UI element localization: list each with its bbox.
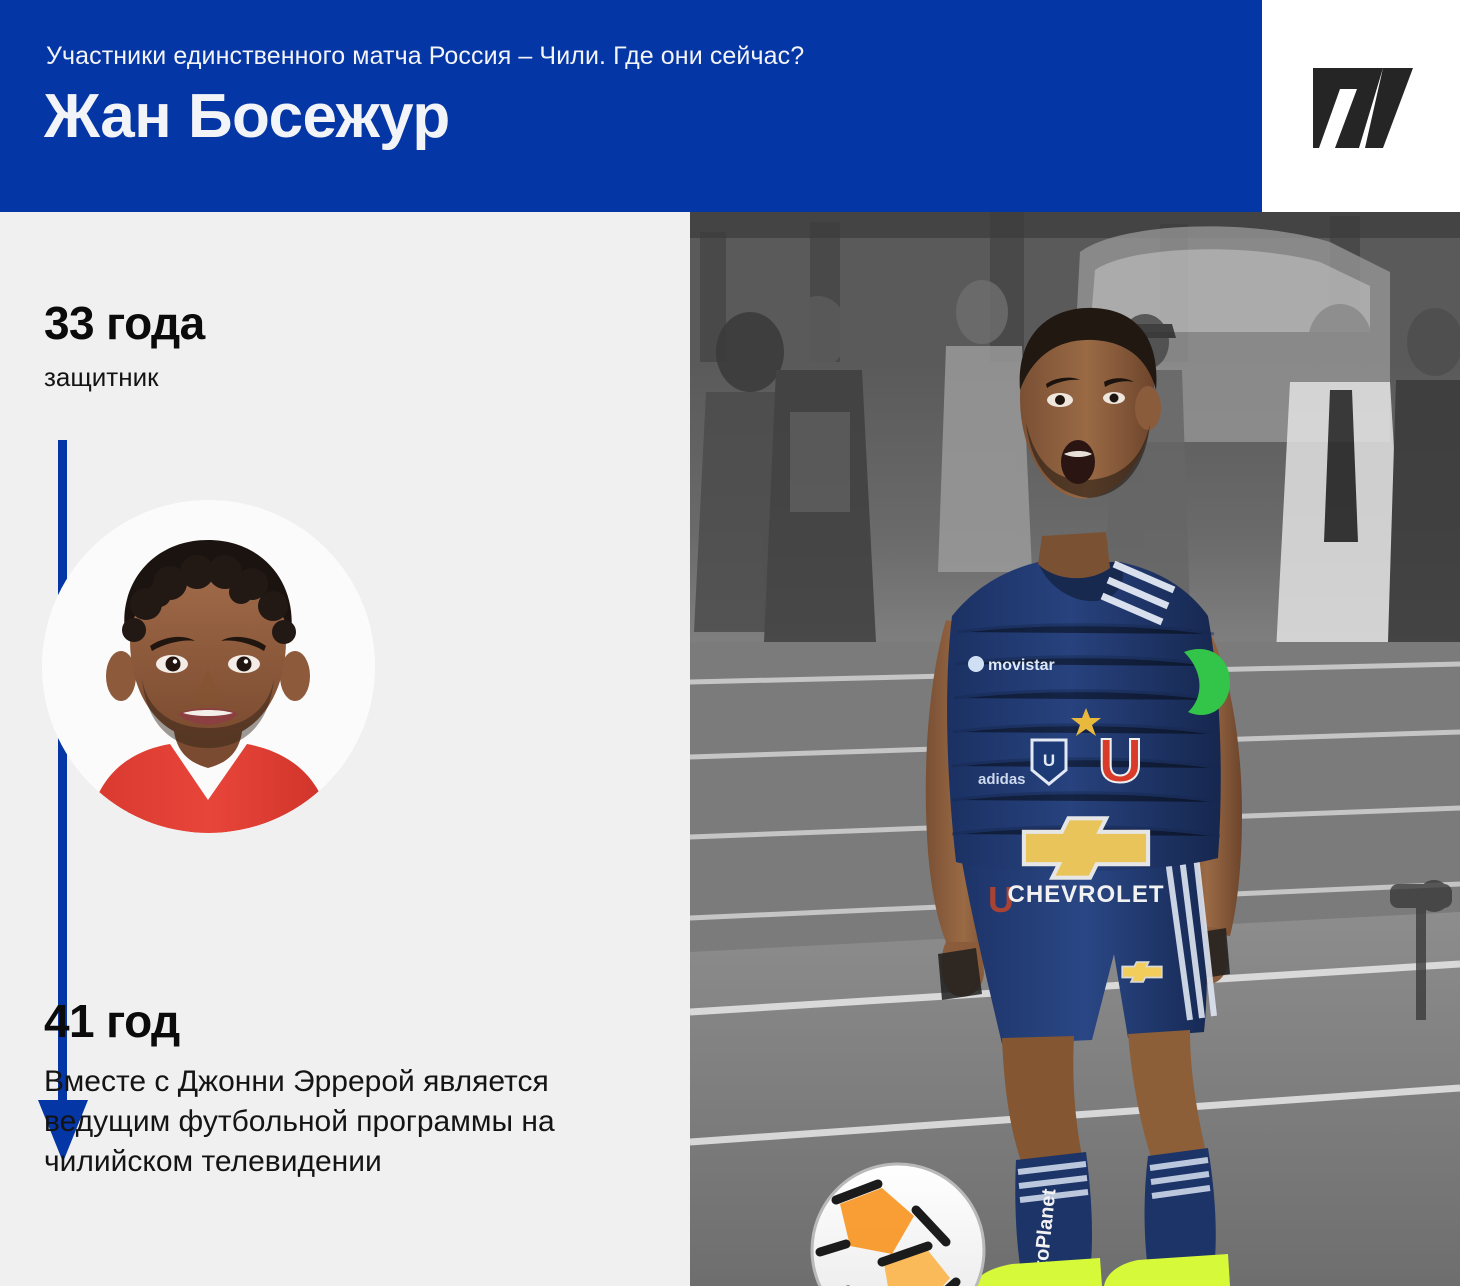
sports-ru-logo-icon[interactable]: [1313, 68, 1413, 148]
svg-text:U: U: [1098, 727, 1143, 796]
role-then: защитник: [44, 362, 158, 393]
header-banner: Участники единственного матча Россия – Ч…: [0, 0, 1262, 212]
header-kicker: Участники единственного матча Россия – Ч…: [46, 42, 1146, 71]
age-then: 33 года: [44, 296, 205, 350]
svg-text:CHEVROLET: CHEVROLET: [1007, 881, 1164, 908]
page-title: Жан Босежур: [44, 84, 1194, 149]
player-headshot-avatar: [42, 500, 375, 833]
current-activity-description: Вместе с Джонни Эррерой является ведущим…: [44, 1062, 604, 1183]
infographic-card: Участники единственного матча Россия – Ч…: [0, 0, 1460, 1286]
player-action-photo: U: [690, 212, 1460, 1286]
profile-panel: 33 года защитник: [0, 212, 690, 1286]
svg-text:U: U: [1043, 751, 1055, 770]
svg-text:movistar: movistar: [988, 657, 1055, 674]
age-now: 41 год: [44, 994, 180, 1048]
svg-text:adidas: adidas: [978, 771, 1026, 788]
